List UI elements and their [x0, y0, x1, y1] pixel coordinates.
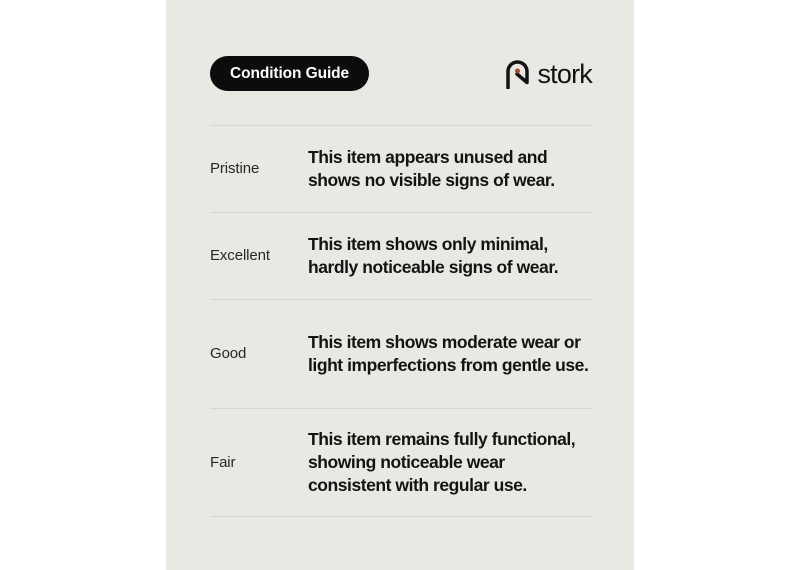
condition-guide-badge: Condition Guide — [210, 56, 369, 91]
stork-arch-mark-icon — [505, 59, 530, 89]
table-row: Excellent This item shows only minimal, … — [210, 213, 592, 299]
condition-label: Good — [210, 345, 308, 363]
condition-description: This item shows moderate wear or light i… — [308, 331, 592, 378]
condition-description: This item remains fully functional, show… — [308, 428, 592, 498]
condition-guide-table: Pristine This item appears unused and sh… — [210, 125, 592, 517]
table-row: Fair This item remains fully functional,… — [210, 409, 592, 516]
brand-lockup: stork — [505, 58, 592, 90]
condition-description: This item appears unused and shows no vi… — [308, 146, 592, 193]
condition-label: Pristine — [210, 160, 308, 178]
card-header: Condition Guide stork — [210, 56, 592, 92]
condition-guide-card: Condition Guide stork Pristine This item… — [166, 0, 634, 570]
table-row: Pristine This item appears unused and sh… — [210, 126, 592, 212]
brand-wordmark: stork — [537, 61, 592, 88]
page-root: Condition Guide stork Pristine This item… — [0, 0, 800, 570]
table-row: Good This item shows moderate wear or li… — [210, 300, 592, 408]
table-divider-bottom — [210, 516, 592, 517]
condition-label: Fair — [210, 454, 308, 472]
condition-description: This item shows only minimal, hardly not… — [308, 233, 592, 280]
condition-label: Excellent — [210, 247, 308, 265]
